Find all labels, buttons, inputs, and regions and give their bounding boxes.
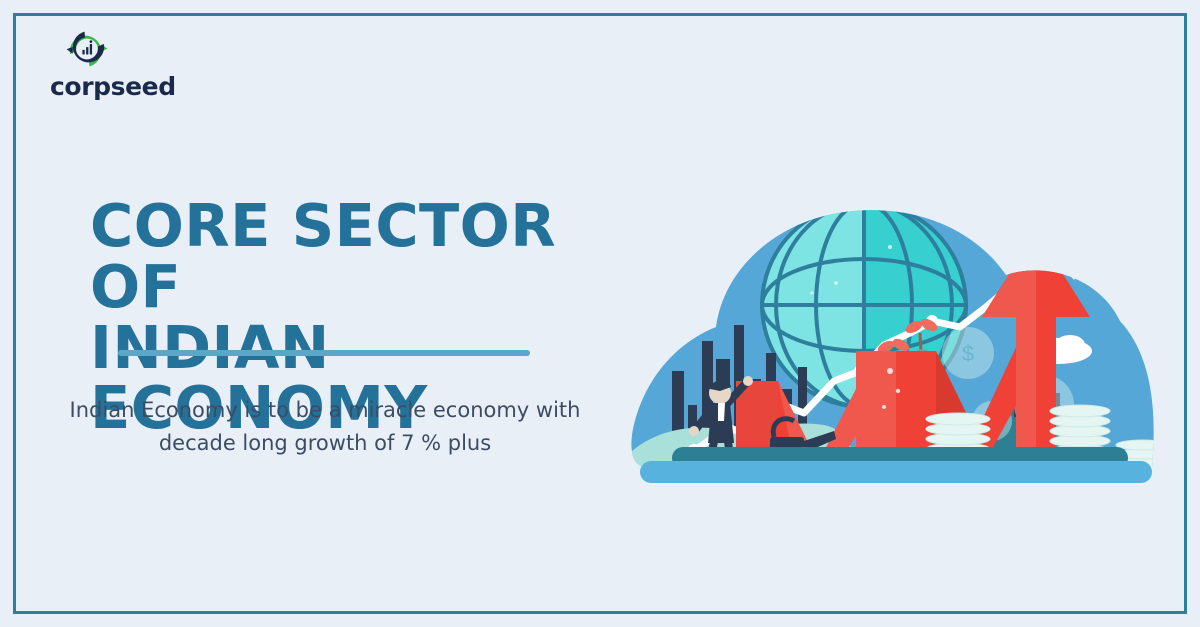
illustration-svg: $ $ <box>628 175 1168 495</box>
page-subtitle: Indian Economy is to be a miracle econom… <box>60 394 590 460</box>
title-divider <box>118 350 530 356</box>
brand-logo[interactable]: corpseed <box>50 26 230 99</box>
corpseed-logo-icon <box>64 26 110 72</box>
svg-text:$: $ <box>962 341 974 366</box>
brand-wordmark: corpseed <box>50 74 230 99</box>
economy-growth-illustration: $ $ <box>628 175 1168 495</box>
banner-root: corpseed CORE SECTOR OF INDIAN ECONOMY I… <box>0 0 1200 627</box>
ground-platform <box>640 447 1152 483</box>
